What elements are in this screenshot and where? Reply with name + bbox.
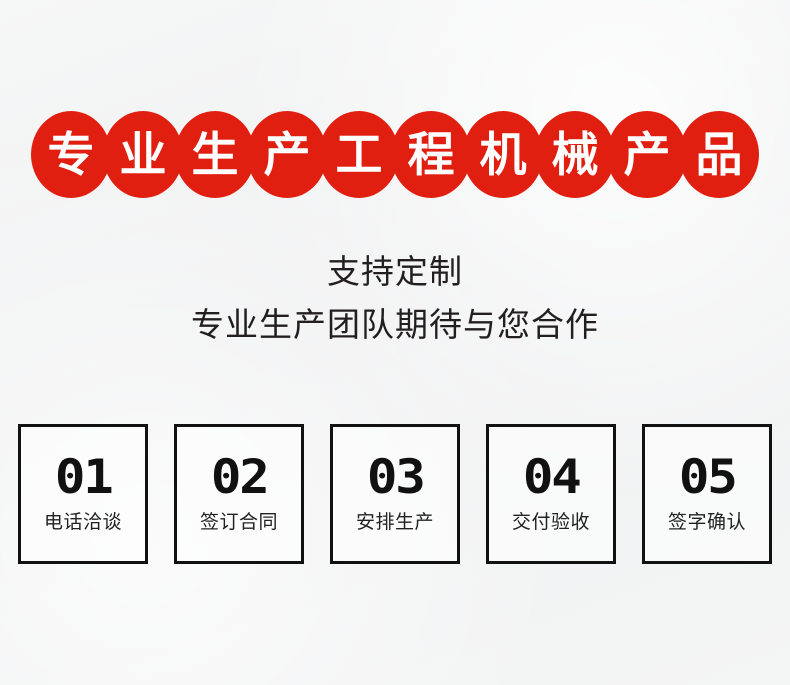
headline-bubble: 业 [103, 111, 183, 198]
headline-bubble: 产 [607, 111, 687, 198]
headline-bubble: 机 [463, 111, 543, 198]
headline-bubble: 产 [247, 111, 327, 198]
headline-char: 业 [120, 131, 167, 178]
step-number: 02 [211, 454, 268, 501]
step-card: 02 签订合同 [174, 424, 304, 564]
step-label: 签订合同 [200, 513, 278, 532]
step-label: 安排生产 [356, 513, 434, 532]
step-number: 05 [679, 454, 736, 501]
headline-char: 工 [336, 131, 383, 178]
headline-char: 程 [408, 131, 455, 178]
headline-char: 专 [48, 131, 95, 178]
headline-char: 机 [480, 131, 527, 178]
headline-char: 械 [552, 131, 599, 178]
step-number: 04 [523, 454, 580, 501]
headline-char: 生 [192, 131, 239, 178]
headline-char: 产 [624, 131, 671, 178]
headline-char: 品 [696, 131, 743, 178]
subheadline-line-2: 专业生产团队期待与您合作 [0, 298, 790, 346]
headline-bubble: 生 [175, 111, 255, 198]
step-label: 交付验收 [512, 513, 590, 532]
headline-bubble: 械 [535, 111, 615, 198]
headline-char: 产 [264, 131, 311, 178]
subheadline-line-1: 支持定制 [0, 245, 790, 293]
headline-bubble: 程 [391, 111, 471, 198]
step-number: 03 [367, 454, 424, 501]
step-card: 03 安排生产 [330, 424, 460, 564]
step-card: 04 交付验收 [486, 424, 616, 564]
process-steps: 01 电话洽谈 02 签订合同 03 安排生产 04 交付验收 05 签字确认 [18, 424, 772, 564]
step-card: 05 签字确认 [642, 424, 772, 564]
headline-bubble: 工 [319, 111, 399, 198]
promo-banner: 专 业 生 产 工 程 机 械 产 品 支持定制 专业生产团队期待与您合作 01… [0, 0, 790, 685]
step-number: 01 [55, 454, 112, 501]
step-label: 签字确认 [668, 513, 746, 532]
step-label: 电话洽谈 [44, 513, 122, 532]
headline-bubble: 品 [679, 111, 759, 198]
headline: 专 业 生 产 工 程 机 械 产 品 [0, 110, 790, 198]
headline-bubble: 专 [31, 111, 111, 198]
step-card: 01 电话洽谈 [18, 424, 148, 564]
